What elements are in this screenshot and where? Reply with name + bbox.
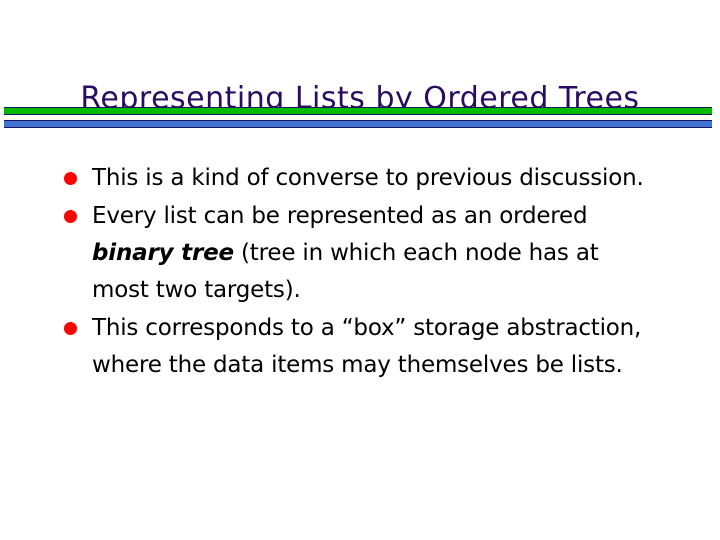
list-item: This corresponds to a “box” storage abst… [60, 310, 660, 384]
list-item-text-before: Every list can be represented as an orde… [92, 203, 587, 229]
bullet-dot-icon [64, 172, 77, 185]
list-item: This is a kind of converse to previous d… [60, 160, 660, 197]
list-item-text-before: This is a kind of converse to previous d… [92, 165, 644, 191]
list-item-emphasis: binary tree [92, 240, 234, 266]
list-item-text: This is a kind of converse to previous d… [92, 160, 660, 197]
divider-blue-bar [4, 120, 712, 128]
list-item-text-before: This corresponds to a “box” storage abst… [92, 315, 641, 378]
divider-green-bar [4, 107, 712, 115]
bullet-dot-icon [64, 322, 77, 335]
bullet-dot-icon [64, 210, 77, 223]
list-item-text: This corresponds to a “box” storage abst… [92, 310, 660, 384]
bullet-list: This is a kind of converse to previous d… [60, 160, 660, 384]
title-divider [4, 107, 712, 129]
list-item-text: Every list can be represented as an orde… [92, 198, 660, 309]
slide-canvas: Representing Lists by Ordered Trees This… [0, 0, 720, 540]
list-item: Every list can be represented as an orde… [60, 198, 660, 309]
